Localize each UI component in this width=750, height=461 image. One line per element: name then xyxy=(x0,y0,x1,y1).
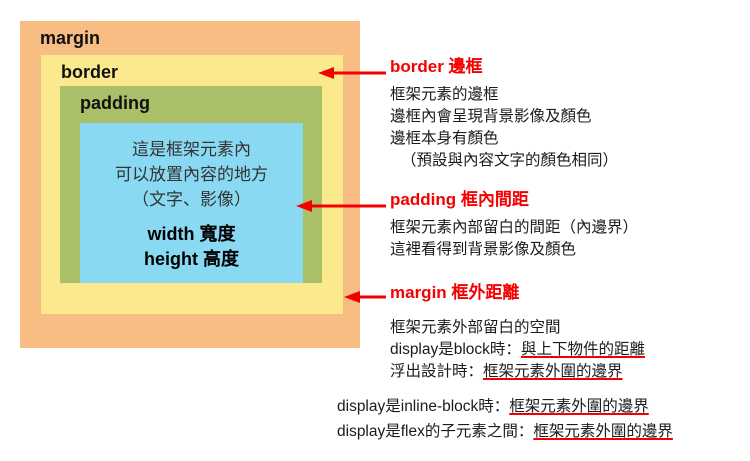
annotation-border-body: 框架元素的邊框 邊框內會呈現背景影像及顏色 邊框本身有顏色 （預設與內容文字的顏… xyxy=(390,84,618,172)
margin-arrow xyxy=(344,290,386,304)
padding-layer-label: padding xyxy=(80,93,150,113)
box-model-diagram: margin border padding 這是框架元素內 可以放置內容的地方 … xyxy=(20,21,360,348)
extra-notes: display是inline-block時：框架元素外圍的邊界 display是… xyxy=(337,394,673,444)
annotation-line: 框架元素外部留白的空間 xyxy=(390,317,645,339)
annotation-border: border 邊框 框架元素的邊框 邊框內會呈現背景影像及顏色 邊框本身有顏色 … xyxy=(390,57,618,172)
annotation-border-heading: border 邊框 xyxy=(390,57,618,77)
content-text-line: 可以放置內容的地方 xyxy=(115,162,268,187)
annotation-line: 邊框內會呈現背景影像及顏色 xyxy=(390,106,618,128)
padding-layer: padding 這是框架元素內 可以放置內容的地方 （文字、影像） width … xyxy=(60,86,322,283)
extra-note-emphasis: 框架元素外圍的邊界 xyxy=(509,398,649,415)
margin-layer: margin border padding 這是框架元素內 可以放置內容的地方 … xyxy=(20,21,360,348)
padding-arrow xyxy=(296,199,386,213)
content-text-line: 這是框架元素內 xyxy=(132,137,251,162)
content-layer: 這是框架元素內 可以放置內容的地方 （文字、影像） width 寬度 heigh… xyxy=(80,123,303,283)
annotation-line: 這裡看得到背景影像及顏色 xyxy=(390,239,638,261)
extra-note-line: display是flex的子元素之間：框架元素外圍的邊界 xyxy=(337,419,673,444)
annotation-line: display是block時：與上下物件的距離 xyxy=(390,339,645,361)
annotation-line: （預設與內容文字的顏色相同） xyxy=(390,150,618,172)
extra-note-prefix: display是flex的子元素之間： xyxy=(337,423,533,440)
annotation-margin-body: 框架元素外部留白的空間 display是block時：與上下物件的距離 浮出設計… xyxy=(390,317,645,383)
border-arrow xyxy=(318,66,386,80)
annotation-line-prefix: 浮出設計時： xyxy=(390,363,483,380)
content-text-line: （文字、影像） xyxy=(132,187,251,212)
annotation-line: 框架元素的邊框 xyxy=(390,84,618,106)
extra-note-emphasis: 框架元素外圍的邊界 xyxy=(533,423,673,440)
annotation-margin: margin 框外距離 框架元素外部留白的空間 display是block時：與… xyxy=(390,283,645,383)
annotation-line-prefix: display是block時： xyxy=(390,341,521,358)
annotation-margin-heading: margin 框外距離 xyxy=(390,283,645,303)
content-height-label: height 高度 xyxy=(144,247,239,272)
annotation-line: 邊框本身有顏色 xyxy=(390,128,618,150)
border-layer: border padding 這是框架元素內 可以放置內容的地方 （文字、影像）… xyxy=(41,55,343,314)
annotation-padding-body: 框架元素內部留白的間距（內邊界） 這裡看得到背景影像及顏色 xyxy=(390,217,638,261)
annotation-line-emphasis: 框架元素外圍的邊界 xyxy=(483,363,623,380)
border-layer-label: border xyxy=(61,62,118,82)
annotation-line: 浮出設計時：框架元素外圍的邊界 xyxy=(390,361,645,383)
extra-note-line: display是inline-block時：框架元素外圍的邊界 xyxy=(337,394,673,419)
extra-note-prefix: display是inline-block時： xyxy=(337,398,509,415)
annotation-padding-heading: padding 框內間距 xyxy=(390,190,638,210)
annotation-line-emphasis: 與上下物件的距離 xyxy=(521,341,645,358)
annotation-padding: padding 框內間距 框架元素內部留白的間距（內邊界） 這裡看得到背景影像及… xyxy=(390,190,638,261)
annotation-line: 框架元素內部留白的間距（內邊界） xyxy=(390,217,638,239)
margin-layer-label: margin xyxy=(40,28,100,48)
content-width-label: width 寬度 xyxy=(148,222,236,247)
